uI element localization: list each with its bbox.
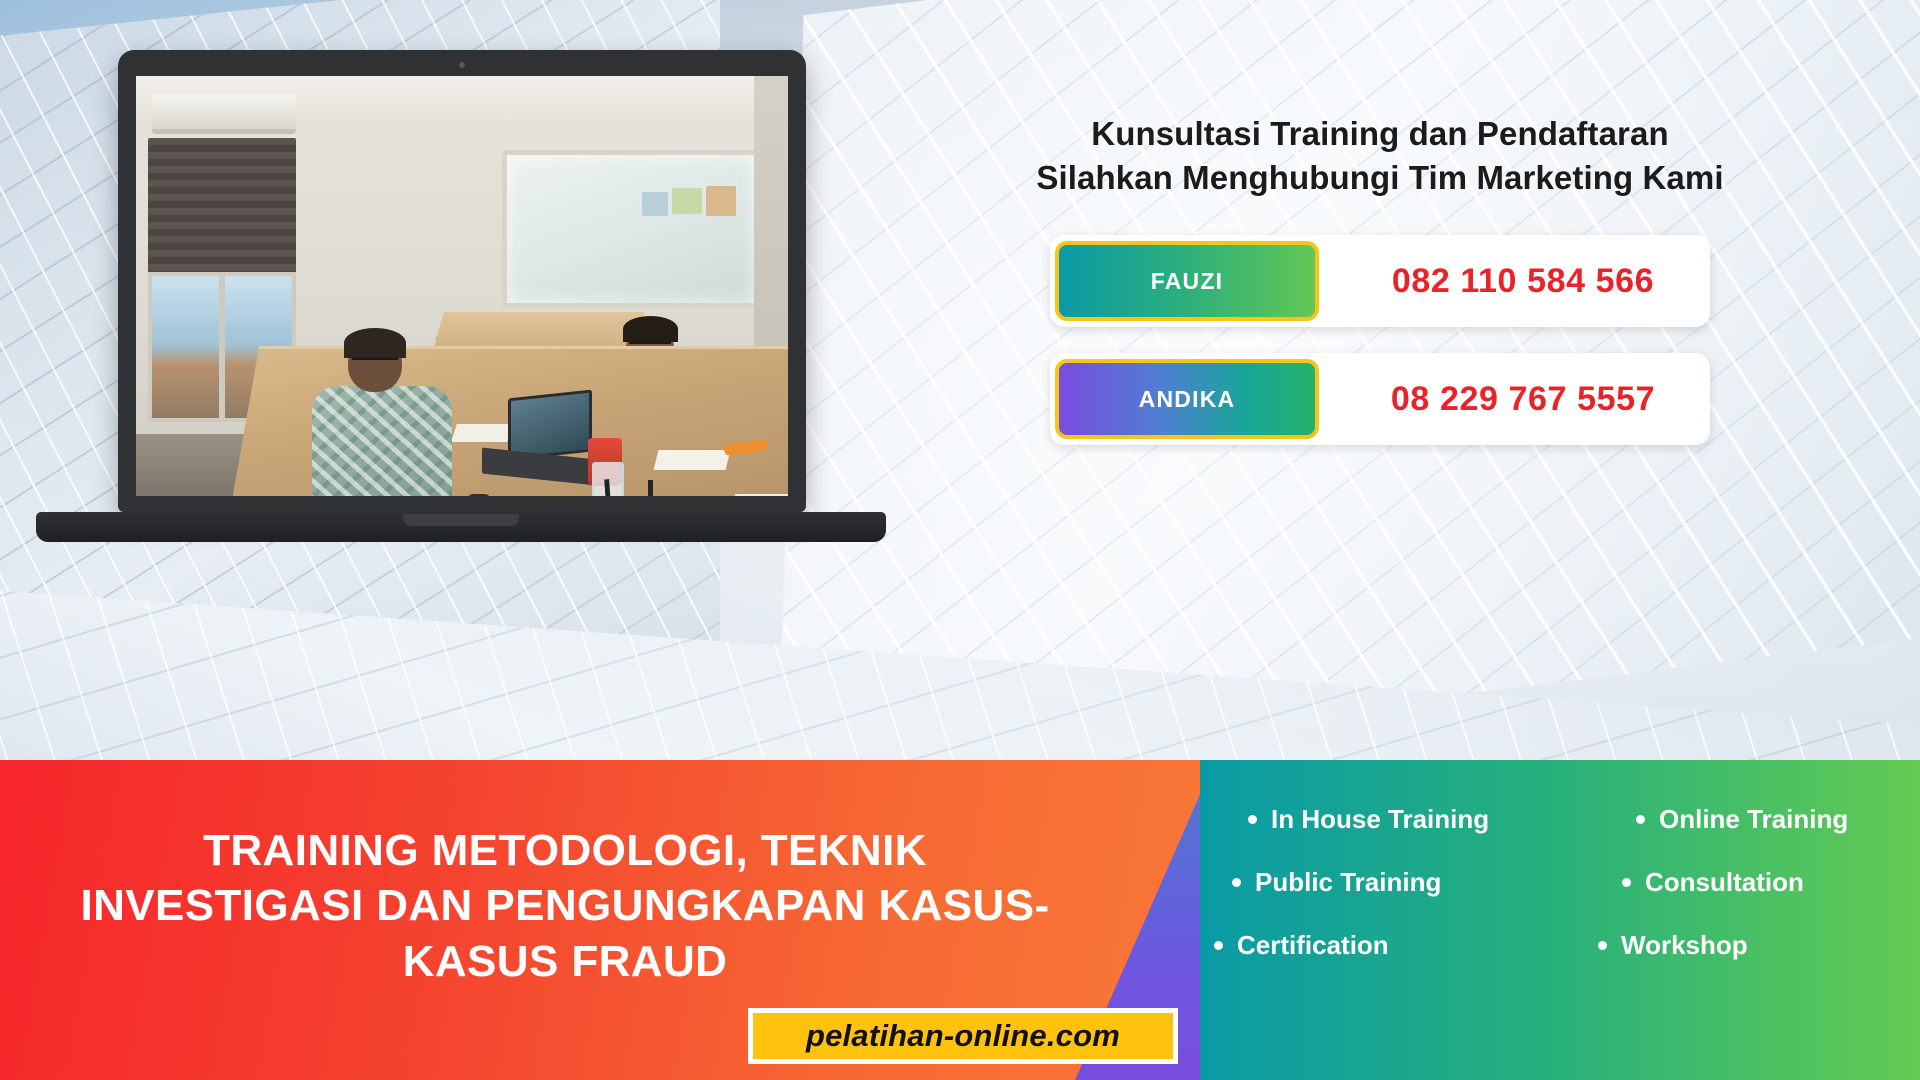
promo-banner: Kunsultasi Training dan Pendaftaran Sila… bbox=[0, 0, 1920, 1080]
headline: Kunsultasi Training dan Pendaftaran Sila… bbox=[870, 112, 1890, 199]
contact-name-andika: ANDIKA bbox=[1139, 386, 1236, 413]
bullet-icon bbox=[1214, 941, 1223, 950]
webcam-icon bbox=[459, 62, 465, 68]
website-badge[interactable]: pelatihan-online.com bbox=[748, 1008, 1178, 1064]
service-label: Certification bbox=[1237, 930, 1389, 961]
laptop-notch bbox=[403, 514, 519, 526]
laptop-lid bbox=[118, 50, 806, 512]
service-item[interactable]: Public Training bbox=[1212, 867, 1566, 898]
contact-section: Kunsultasi Training dan Pendaftaran Sila… bbox=[870, 112, 1890, 445]
contact-name-pill-andika: ANDIKA bbox=[1055, 359, 1319, 439]
laptop-screen bbox=[136, 76, 788, 496]
service-item[interactable]: Consultation bbox=[1566, 867, 1920, 898]
services-list: In House Training Online Training Public… bbox=[1212, 804, 1920, 961]
contact-card-fauzi[interactable]: FAUZI 082 110 584 566 bbox=[1050, 235, 1710, 327]
contact-phone-fauzi[interactable]: 082 110 584 566 bbox=[1336, 262, 1710, 301]
service-item[interactable]: Certification bbox=[1212, 930, 1566, 961]
service-item[interactable]: Workshop bbox=[1566, 930, 1920, 961]
contact-phone-andika[interactable]: 08 229 767 5557 bbox=[1336, 380, 1710, 419]
website-url: pelatihan-online.com bbox=[806, 1018, 1120, 1054]
air-conditioner bbox=[152, 94, 296, 134]
contact-name-pill-fauzi: FAUZI bbox=[1055, 241, 1319, 321]
contact-card-andika[interactable]: ANDIKA 08 229 767 5557 bbox=[1050, 353, 1710, 445]
bullet-icon bbox=[1622, 878, 1631, 887]
service-label: Online Training bbox=[1659, 804, 1848, 835]
headline-line-1: Kunsultasi Training dan Pendaftaran bbox=[870, 112, 1890, 156]
service-label: In House Training bbox=[1271, 804, 1489, 835]
bullet-icon bbox=[1248, 815, 1257, 824]
service-item[interactable]: Online Training bbox=[1566, 804, 1920, 835]
window-blind bbox=[148, 138, 296, 280]
whiteboard bbox=[502, 150, 760, 308]
headline-line-2: Silahkan Menghubungi Tim Marketing Kami bbox=[870, 156, 1890, 200]
contact-name-fauzi: FAUZI bbox=[1151, 268, 1223, 295]
training-photo bbox=[136, 76, 788, 496]
laptop-mockup bbox=[36, 50, 886, 542]
service-label: Consultation bbox=[1645, 867, 1804, 898]
service-label: Public Training bbox=[1255, 867, 1441, 898]
bullet-icon bbox=[1232, 878, 1241, 887]
service-item[interactable]: In House Training bbox=[1212, 804, 1566, 835]
bullet-icon bbox=[1598, 941, 1607, 950]
photo-laptop bbox=[508, 390, 592, 461]
laptop-base bbox=[36, 512, 886, 542]
bullet-icon bbox=[1636, 815, 1645, 824]
service-label: Workshop bbox=[1621, 930, 1748, 961]
